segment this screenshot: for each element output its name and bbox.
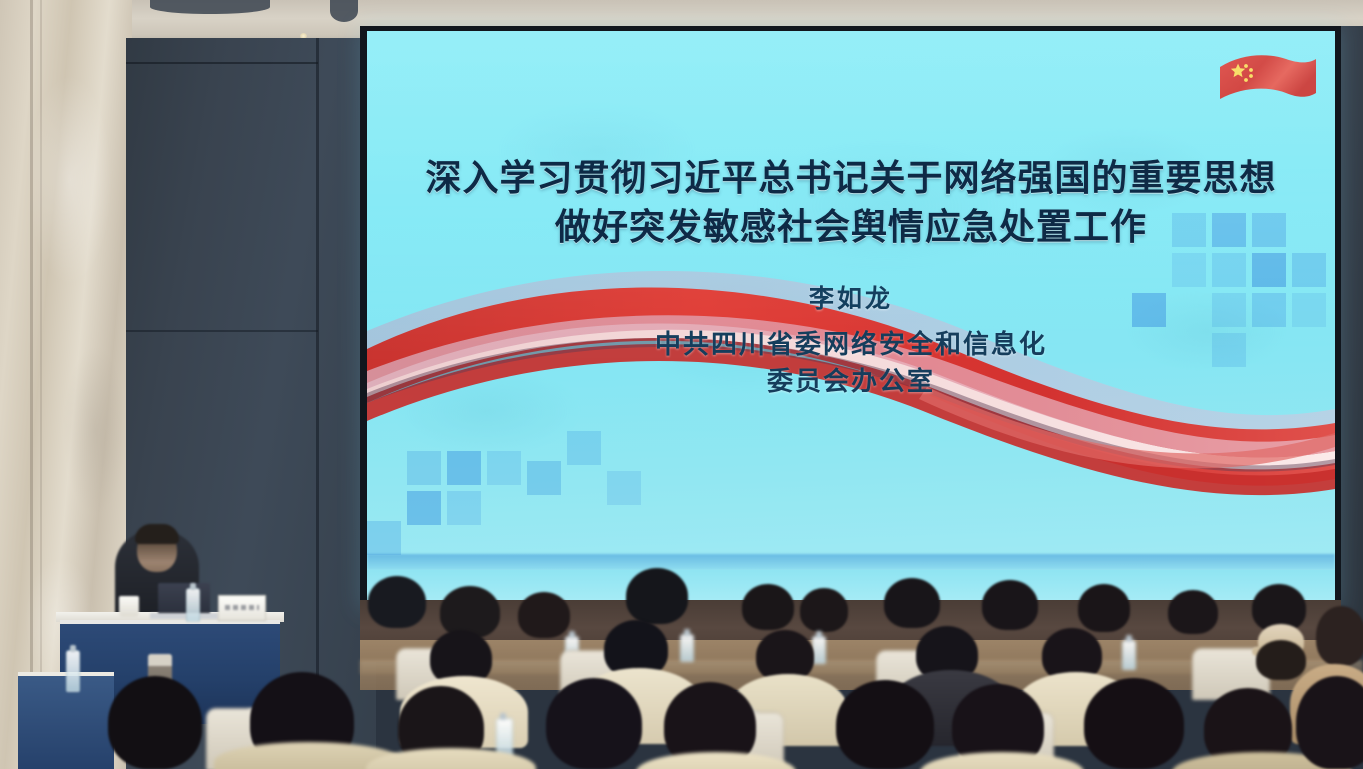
led-screen: 深入学习贯彻习近平总书记关于网络强国的重要思想 做好突发敏感社会舆情应急处置工作… bbox=[367, 31, 1335, 604]
water-bottle bbox=[186, 588, 200, 622]
audience-head bbox=[546, 678, 642, 769]
audience-head bbox=[626, 568, 688, 624]
slide-organization: 中共四川省委网络安全和信息化 委员会办公室 bbox=[367, 327, 1335, 401]
name-card bbox=[218, 595, 266, 621]
panel-seam bbox=[316, 38, 319, 769]
audience-head bbox=[108, 676, 202, 769]
audience-head bbox=[982, 580, 1038, 630]
audience-head bbox=[742, 584, 794, 630]
audience-head bbox=[1256, 640, 1306, 680]
water-bottle bbox=[1122, 640, 1136, 670]
panel-seam bbox=[126, 62, 318, 64]
panel-seam bbox=[126, 330, 318, 332]
slide-title-line-1: 深入学习贯彻习近平总书记关于网络强国的重要思想 bbox=[367, 153, 1335, 202]
audience-head bbox=[440, 586, 500, 638]
water-bottle bbox=[66, 650, 80, 692]
red-ribbon-graphic bbox=[367, 31, 1335, 604]
water-bottle bbox=[680, 634, 694, 662]
audience-head bbox=[1084, 678, 1184, 769]
audience-head bbox=[836, 680, 934, 769]
audience-head bbox=[800, 588, 848, 632]
slide-organization-line-2: 委员会办公室 bbox=[367, 364, 1335, 401]
seated-speaker-hair bbox=[135, 524, 179, 544]
slide-presenter-name: 李如龙 bbox=[367, 279, 1335, 315]
slide-title-line-2: 做好突发敏感社会舆情应急处置工作 bbox=[367, 202, 1335, 251]
audience-head bbox=[518, 592, 570, 638]
slide-organization-line-1: 中共四川省委网络安全和信息化 bbox=[367, 327, 1335, 364]
audience-shoulders bbox=[920, 752, 1084, 769]
slide-title: 深入学习贯彻习近平总书记关于网络强国的重要思想 做好突发敏感社会舆情应急处置工作 bbox=[367, 153, 1335, 251]
audience-head bbox=[1168, 590, 1218, 634]
china-flag-icon bbox=[1212, 45, 1322, 113]
laptop bbox=[158, 583, 210, 616]
tea-cup bbox=[119, 596, 139, 617]
laptop-base bbox=[150, 613, 218, 619]
ceiling-speaker-icon bbox=[330, 0, 358, 22]
audience-head bbox=[1316, 606, 1363, 666]
audience-head bbox=[884, 578, 940, 628]
conference-photo: 深入学习贯彻习近平总书记关于网络强国的重要思想 做好突发敏感社会舆情应急处置工作… bbox=[0, 0, 1363, 769]
water-bottle bbox=[812, 636, 826, 664]
audience-head bbox=[368, 576, 426, 628]
slide-horizon-band bbox=[367, 554, 1335, 570]
audience-head bbox=[1078, 584, 1130, 632]
ceiling-vent bbox=[150, 0, 270, 14]
audience-head bbox=[1296, 676, 1363, 769]
